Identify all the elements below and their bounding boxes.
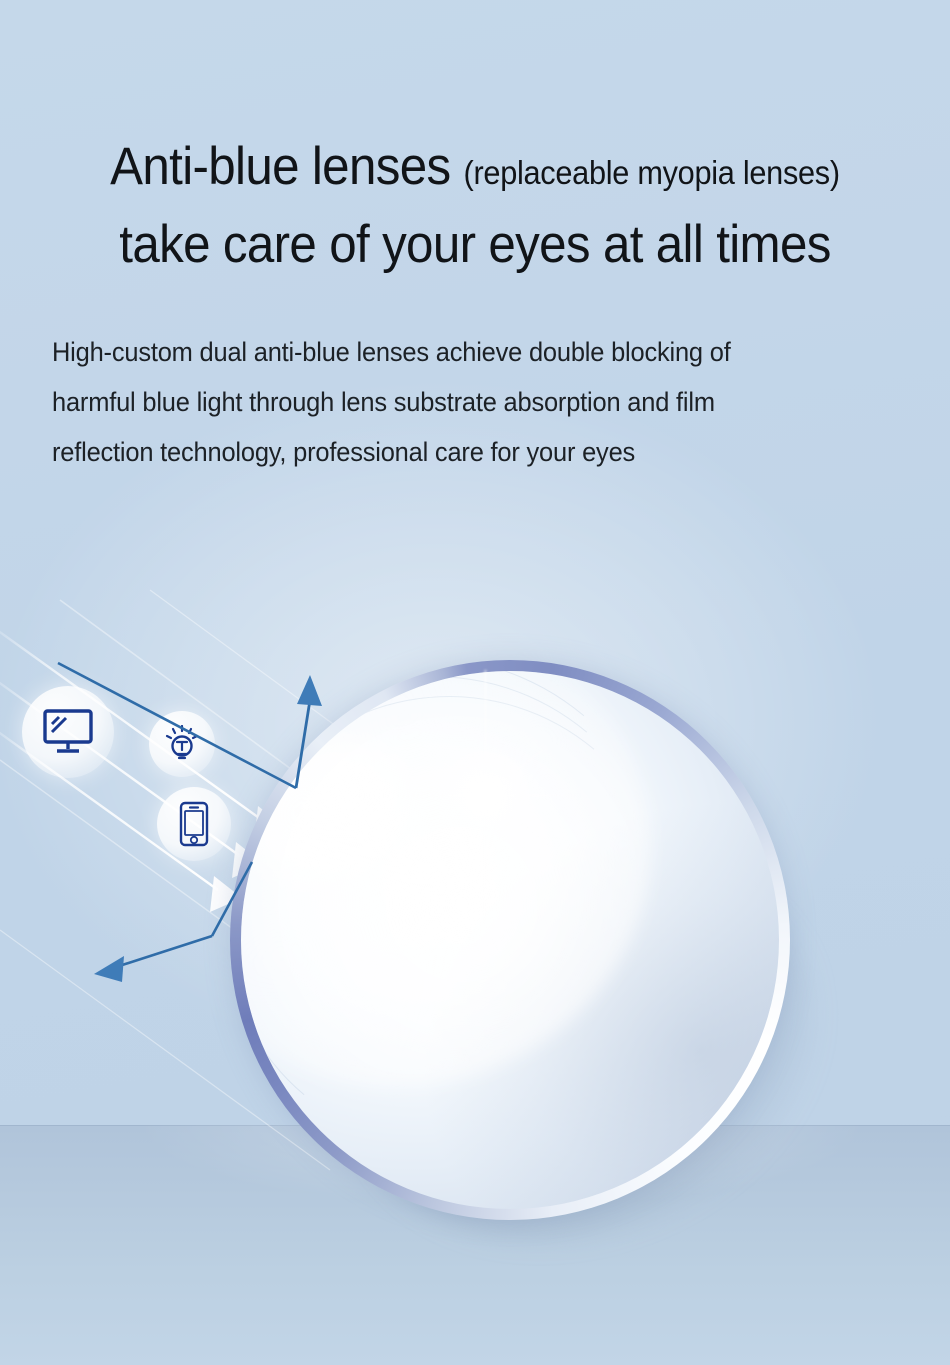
body-copy-line-2: harmful blue light through lens substrat… — [52, 377, 858, 427]
body-copy-block: High-custom dual anti-blue lenses achiev… — [52, 327, 858, 477]
product-banner: Anti-blue lenses (replaceable myopia len… — [0, 0, 950, 1365]
headline-line-1: Anti-blue lenses (replaceable myopia len… — [33, 136, 917, 204]
headline-paren-text: (replaceable myopia lenses) — [464, 154, 840, 191]
badge-smartphone[interactable] — [157, 787, 231, 861]
lens-disc — [160, 590, 859, 1289]
headline-line-2: take care of your eyes at all times — [33, 214, 917, 276]
body-copy-line-1: High-custom dual anti-blue lenses achiev… — [52, 327, 858, 377]
lightbulb-icon — [164, 725, 200, 763]
smartphone-icon — [179, 801, 209, 847]
monitor-icon — [42, 708, 94, 756]
body-copy-line-3: reflection technology, professional care… — [52, 427, 858, 477]
lens-face — [174, 604, 846, 1276]
badge-monitor[interactable] — [22, 686, 114, 778]
headline-main-text: Anti-blue lenses — [110, 137, 450, 196]
lens-assembly — [200, 620, 820, 1260]
headline-block: Anti-blue lenses (replaceable myopia len… — [0, 136, 950, 276]
badge-lightbulb[interactable] — [149, 711, 215, 777]
